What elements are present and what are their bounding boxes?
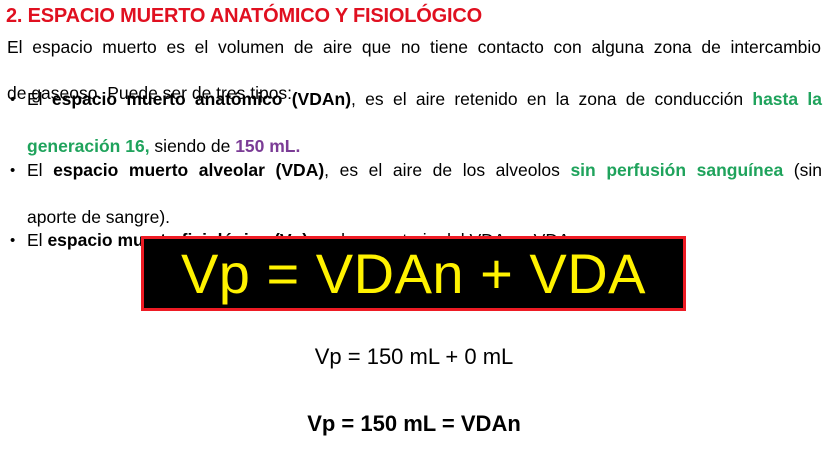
text-green: sin perfusión sanguínea <box>570 160 783 180</box>
list-item-line: aporte de sangre). <box>27 206 822 230</box>
equation-line-2: Vp = 150 mL = VDAn <box>0 411 828 437</box>
text-plain: El <box>27 160 53 180</box>
formula-highlight-box: Vp = VDAn + VDA <box>141 236 686 311</box>
text-plain: , es el aire de los alveolos <box>324 160 570 180</box>
list-item: • El espacio muerto anatómico (VDAn), es… <box>7 88 822 159</box>
text-plain: El <box>27 230 47 250</box>
text-bold: espacio muerto alveolar (VDA) <box>53 160 324 180</box>
list-item-line: generación 16, siendo de 150 mL. <box>27 135 822 159</box>
text-green: hasta la <box>752 89 822 109</box>
list-item-body: El espacio muerto anatómico (VDAn), es e… <box>27 88 822 159</box>
bullet-dot-icon: • <box>10 88 15 112</box>
text-plain: El <box>27 89 52 109</box>
list-item: • El espacio muerto alveolar (VDA), es e… <box>7 159 822 230</box>
text-purple: 150 mL <box>235 136 295 156</box>
page-title: 2. ESPACIO MUERTO ANATÓMICO Y FISIOLÓGIC… <box>6 5 482 28</box>
bullet-dot-icon: • <box>10 229 15 253</box>
text-plain: (sin <box>783 160 822 180</box>
text-plain: siendo de <box>150 136 236 156</box>
text-plain: . <box>296 136 301 156</box>
slide-canvas: 2. ESPACIO MUERTO ANATÓMICO Y FISIOLÓGIC… <box>0 0 828 466</box>
list-item-line: El espacio muerto anatómico (VDAn), es e… <box>27 88 822 135</box>
text-bold: espacio muerto anatómico (VDAn) <box>52 89 351 109</box>
formula-text: Vp = VDAn + VDA <box>181 246 646 302</box>
list-item-line: El espacio muerto alveolar (VDA), es el … <box>27 159 822 206</box>
text-green: generación 16, <box>27 136 150 156</box>
equation-line-1: Vp = 150 mL + 0 mL <box>0 344 828 370</box>
bullet-dot-icon: • <box>10 159 15 183</box>
intro-line-1: El espacio muerto es el volumen de aire … <box>7 36 821 82</box>
text-plain: , es el aire retenido en la zona de cond… <box>351 89 752 109</box>
bullet-list: • El espacio muerto anatómico (VDAn), es… <box>7 88 822 253</box>
list-item-body: El espacio muerto alveolar (VDA), es el … <box>27 159 822 230</box>
